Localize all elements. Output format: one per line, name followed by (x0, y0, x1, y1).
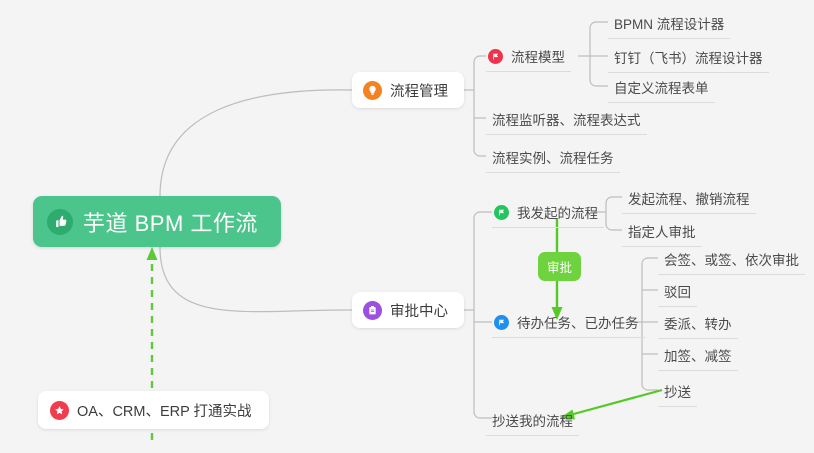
node-custom-form[interactable]: 自定义流程表单 (608, 75, 715, 103)
node-carbon-copy[interactable]: 抄送 (658, 379, 697, 407)
root-label: 芋道 BPM 工作流 (83, 206, 258, 238)
node-bpmn-designer[interactable]: BPMN 流程设计器 (608, 11, 730, 39)
node-reject[interactable]: 驳回 (658, 279, 697, 307)
branch-approval-center[interactable]: 审批中心 (352, 292, 464, 328)
node-todo-done-tasks[interactable]: 待办任务、已办任务 (492, 310, 645, 338)
note-integration[interactable]: OA、CRM、ERP 打通实战 (38, 391, 269, 429)
clipboard-icon (363, 301, 382, 320)
node-label: 流程模型 (511, 46, 565, 66)
note-label: OA、CRM、ERP 打通实战 (77, 400, 252, 421)
node-assignee-approval[interactable]: 指定人审批 (622, 219, 702, 247)
node-process-listener[interactable]: 流程监听器、流程表达式 (486, 107, 647, 135)
node-label: 我发起的流程 (517, 202, 598, 222)
lightbulb-icon (363, 81, 382, 100)
root-node[interactable]: 芋道 BPM 工作流 (33, 196, 281, 247)
node-start-cancel-process[interactable]: 发起流程、撤销流程 (622, 186, 756, 214)
node-label: 待办任务、已办任务 (517, 312, 639, 332)
node-add-remove-sign[interactable]: 加签、减签 (658, 343, 738, 371)
node-delegate-transfer[interactable]: 委派、转办 (658, 311, 738, 339)
flag-icon-red (488, 49, 503, 64)
node-my-initiated[interactable]: 我发起的流程 (492, 200, 604, 228)
branch-label: 流程管理 (390, 80, 448, 101)
approve-badge[interactable]: 审批 (538, 252, 581, 281)
star-icon (50, 401, 69, 420)
node-process-model[interactable]: 流程模型 (486, 44, 571, 72)
mindmap-canvas: 芋道 BPM 工作流 流程管理 流程模型 BPMN 流程设计器 钉钉（飞书）流程… (0, 0, 814, 453)
node-countersign[interactable]: 会签、或签、依次审批 (658, 247, 805, 275)
node-dingtalk-designer[interactable]: 钉钉（飞书）流程设计器 (608, 45, 769, 73)
node-process-instance[interactable]: 流程实例、流程任务 (486, 145, 620, 173)
thumbs-up-icon (47, 209, 73, 235)
flag-icon-blue (494, 315, 509, 330)
branch-label: 审批中心 (390, 300, 448, 321)
node-cc-to-me[interactable]: 抄送我的流程 (486, 408, 579, 436)
flag-icon-green (494, 205, 509, 220)
branch-process-management[interactable]: 流程管理 (352, 72, 464, 108)
